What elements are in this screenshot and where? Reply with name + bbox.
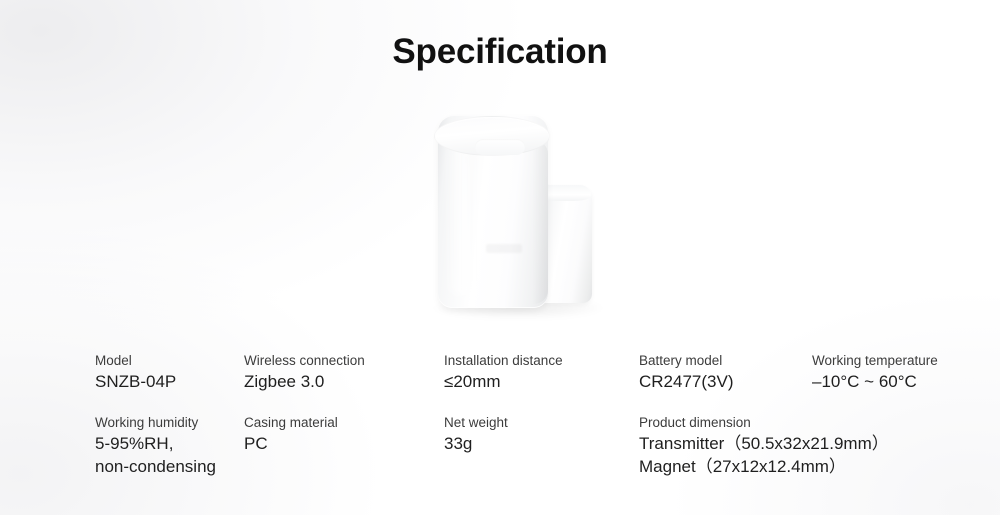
transmitter-edge-shadow xyxy=(532,140,548,304)
spec-value: CR2477(3V) xyxy=(639,371,734,394)
spec-label: Installation distance xyxy=(444,352,563,370)
spec-cell-installation-distance: Installation distance ≤20mm xyxy=(444,352,563,394)
spec-cell-product-dimension: Product dimension Transmitter（50.5x32x21… xyxy=(639,414,889,479)
spec-value: Zigbee 3.0 xyxy=(244,371,365,394)
spec-label: Casing material xyxy=(244,414,338,432)
transmitter-highlight xyxy=(444,144,474,296)
spec-row: Working humidity 5-95%RH, non-condensing… xyxy=(0,414,1000,494)
specification-table: Model SNZB-04P Wireless connection Zigbe… xyxy=(0,352,1000,494)
spec-cell-model: Model SNZB-04P xyxy=(95,352,176,394)
spec-cell-wireless-connection: Wireless connection Zigbee 3.0 xyxy=(244,352,365,394)
spec-value: Transmitter（50.5x32x21.9mm） Magnet（27x12… xyxy=(639,433,889,479)
brand-watermark xyxy=(486,244,522,253)
spec-label: Working temperature xyxy=(812,352,938,370)
spec-label: Working humidity xyxy=(95,414,216,432)
spec-label: Model xyxy=(95,352,176,370)
spec-value: PC xyxy=(244,433,338,456)
page-title: Specification xyxy=(0,31,1000,72)
spec-value: –10°C ~ 60°C xyxy=(812,371,938,394)
spec-cell-battery-model: Battery model CR2477(3V) xyxy=(639,352,734,394)
spec-value: ≤20mm xyxy=(444,371,563,394)
product-image xyxy=(418,100,618,325)
transmitter-top-cap xyxy=(434,116,550,156)
spec-label: Net weight xyxy=(444,414,508,432)
spec-value: SNZB-04P xyxy=(95,371,176,394)
spec-cell-working-temperature: Working temperature –10°C ~ 60°C xyxy=(812,352,938,394)
spec-cell-working-humidity: Working humidity 5-95%RH, non-condensing xyxy=(95,414,216,479)
spec-cell-net-weight: Net weight 33g xyxy=(444,414,508,456)
spec-value: 33g xyxy=(444,433,508,456)
spec-label: Wireless connection xyxy=(244,352,365,370)
spec-row: Model SNZB-04P Wireless connection Zigbe… xyxy=(0,352,1000,414)
transmitter-cap-button xyxy=(475,139,525,155)
spec-label: Product dimension xyxy=(639,414,889,432)
spec-label: Battery model xyxy=(639,352,734,370)
spec-cell-casing-material: Casing material PC xyxy=(244,414,338,456)
spec-value: 5-95%RH, non-condensing xyxy=(95,433,216,479)
